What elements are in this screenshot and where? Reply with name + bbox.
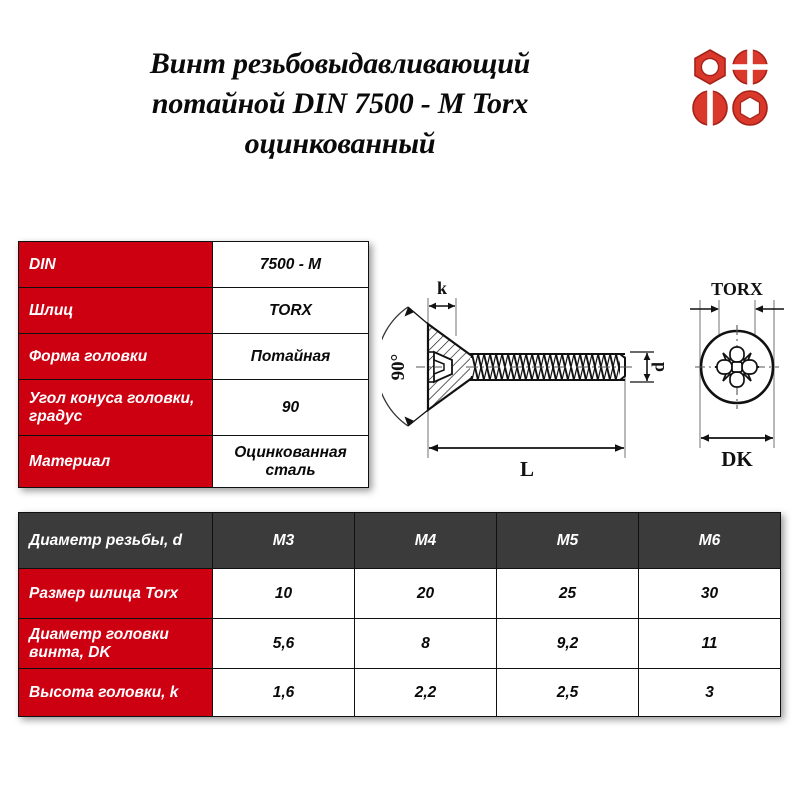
page-title-line-3: оцинкованный <box>40 124 640 164</box>
dimension-d: d <box>630 352 668 382</box>
specification-table: DIN 7500 - M Шлиц TORX Форма головки Пот… <box>18 241 369 488</box>
dim-label-torx-size: Размер шлица Torx <box>19 569 213 619</box>
countersunk-screw-side-view: k 90° <box>382 278 668 481</box>
dim-torx-size-m6: 30 <box>639 569 781 619</box>
dim-head-diameter-m3: 5,6 <box>213 619 355 669</box>
table-row: Диаметр головки винта, DK 5,6 8 9,2 11 <box>19 619 781 669</box>
table-row: DIN 7500 - M <box>19 242 369 288</box>
dimension-torx: TORX <box>690 279 784 313</box>
page-title-line-2: потайной DIN 7500 - M Torx <box>40 84 640 124</box>
dim-head-height-m4: 2,2 <box>355 669 497 717</box>
dim-header-m4: M4 <box>355 513 497 569</box>
table-header-row: Диаметр резьбы, d M3 M4 M5 M6 <box>19 513 781 569</box>
dim-head-diameter-m4: 8 <box>355 619 497 669</box>
screw-head <box>416 324 472 410</box>
screw-thread <box>466 354 634 380</box>
spec-label-drive: Шлиц <box>19 288 213 334</box>
table-row: Форма головки Потайная <box>19 334 369 380</box>
dim-head-height-m6: 3 <box>639 669 781 717</box>
dim-torx-size-m5: 25 <box>497 569 639 619</box>
page-title: Винт резьбовыдавливающий потайной DIN 75… <box>40 44 640 164</box>
spec-label-material: Материал <box>19 436 213 488</box>
dim-head-height-m3: 1,6 <box>213 669 355 717</box>
spec-label-head-shape: Форма головки <box>19 334 213 380</box>
spec-label-cone-angle: Угол конуса головки, градус <box>19 380 213 436</box>
dimension-dk: DK <box>701 434 773 471</box>
hex-socket-screw-icon <box>733 91 767 125</box>
dim-torx-size-m3: 10 <box>213 569 355 619</box>
spec-value-material: Оцинкованная сталь <box>213 436 369 488</box>
dimensions-table: Диаметр резьбы, d M3 M4 M5 M6 Размер шли… <box>18 512 781 717</box>
straight-slot-screw-icon <box>693 90 727 126</box>
dim-head-diameter-m6: 11 <box>639 619 781 669</box>
dimension-label-L: L <box>520 457 534 481</box>
dim-label-head-diameter: Диаметр головки винта, DK <box>19 619 213 669</box>
dim-header-m3: M3 <box>213 513 355 569</box>
spec-sheet-page: Винт резьбовыдавливающий потайной DIN 75… <box>0 0 800 800</box>
spec-value-drive: TORX <box>213 288 369 334</box>
table-row: Материал Оцинкованная сталь <box>19 436 369 488</box>
cross-slot-screw-icon <box>732 49 768 85</box>
dimension-k: k <box>429 278 455 309</box>
dimension-label-dk: DK <box>721 447 753 471</box>
dim-header-m6: M6 <box>639 513 781 569</box>
dimension-label-torx: TORX <box>711 279 763 299</box>
table-row: Угол конуса головки, градус 90 <box>19 380 369 436</box>
torx-head-end-view: TORX <box>690 279 784 471</box>
fastener-logo <box>692 48 770 128</box>
dimension-label-d: d <box>648 362 668 372</box>
dim-head-diameter-m5: 9,2 <box>497 619 639 669</box>
spec-label-din: DIN <box>19 242 213 288</box>
hex-nut-icon <box>695 50 725 84</box>
dim-header-m5: M5 <box>497 513 639 569</box>
table-row: Шлиц TORX <box>19 288 369 334</box>
dimension-label-k: k <box>437 278 447 298</box>
dimension-label-cone-angle: 90° <box>388 354 409 381</box>
table-row: Размер шлица Torx 10 20 25 30 <box>19 569 781 619</box>
spec-value-head-shape: Потайная <box>213 334 369 380</box>
spec-value-cone-angle: 90 <box>213 380 369 436</box>
page-title-line-1: Винт резьбовыдавливающий <box>40 44 640 84</box>
dim-header-label: Диаметр резьбы, d <box>19 513 213 569</box>
spec-value-din: 7500 - M <box>213 242 369 288</box>
technical-drawing: k 90° <box>382 268 792 500</box>
table-row: Высота головки, k 1,6 2,2 2,5 3 <box>19 669 781 717</box>
dim-label-head-height: Высота головки, k <box>19 669 213 717</box>
dim-torx-size-m4: 20 <box>355 569 497 619</box>
dimension-L: L <box>429 444 624 481</box>
dim-head-height-m5: 2,5 <box>497 669 639 717</box>
